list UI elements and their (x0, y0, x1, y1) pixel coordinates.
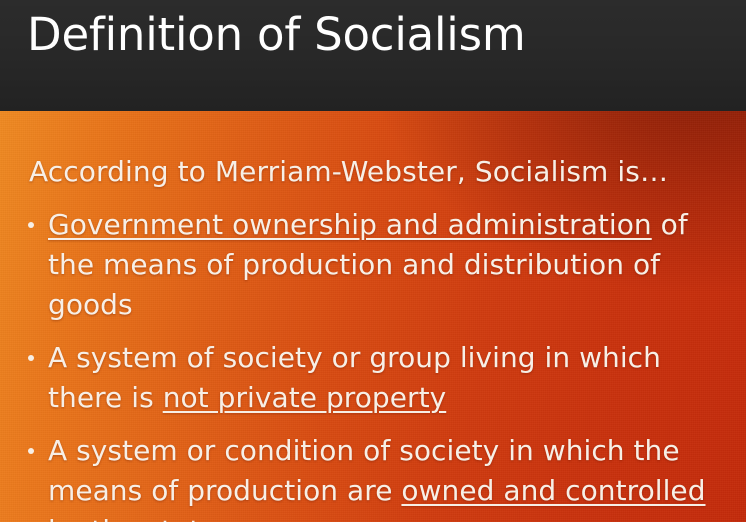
bullet-item-3: A system or condition of society in whic… (0, 431, 746, 522)
bullet-1-underlined-prefix: Government ownership and administration (48, 208, 652, 241)
slide-title: Definition of Socialism (27, 6, 526, 64)
presentation-slide: Definition of Socialism According to Mer… (0, 0, 746, 522)
bullet-dot-icon (28, 355, 34, 361)
bullet-list: Government ownership and administration … (0, 205, 746, 522)
bullet-item-2: A system of society or group living in w… (0, 338, 746, 418)
bullet-dot-icon (28, 448, 34, 454)
bullet-2-underlined-tail: not private property (163, 381, 447, 414)
lead-sentence: According to Merriam-Webster, Socialism … (29, 152, 668, 192)
slide-title-bar: Definition of Socialism (0, 0, 746, 111)
bullet-item-1: Government ownership and administration … (0, 205, 746, 325)
bullet-dot-icon (28, 222, 34, 228)
slide-background: According to Merriam-Webster, Socialism … (0, 111, 746, 522)
